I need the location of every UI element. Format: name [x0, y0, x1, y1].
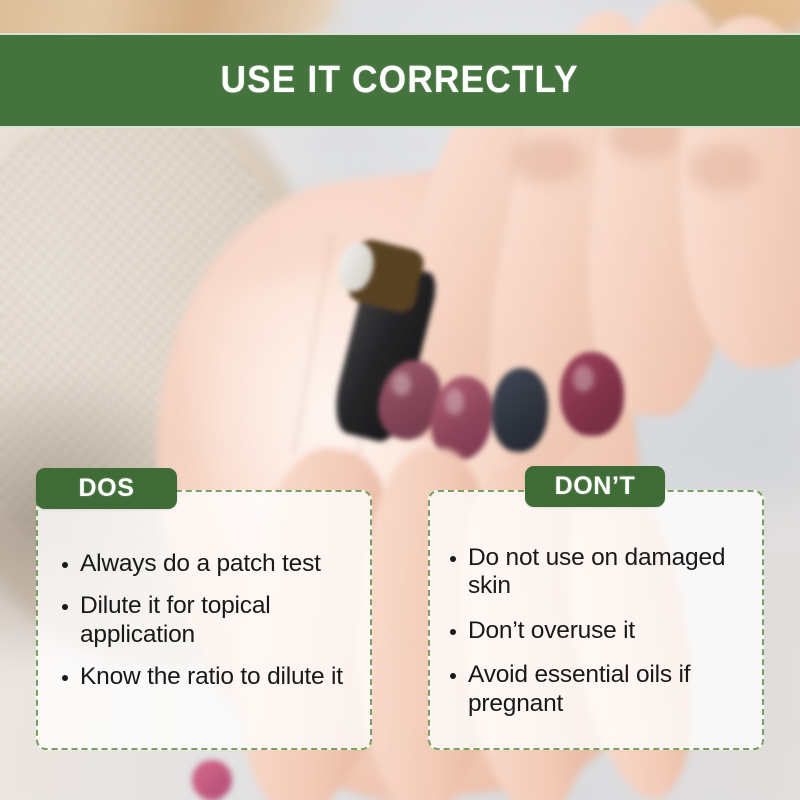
photo-knuckle	[512, 136, 584, 184]
photo-nail-gloss	[392, 372, 411, 396]
photo-nail-gloss	[573, 365, 594, 392]
list-item: Dilute it for topical application	[60, 592, 356, 649]
dos-tab: DOS	[36, 468, 177, 509]
dont-tab-label: DON’T	[555, 472, 636, 501]
list-item: Don’t overuse it	[448, 617, 752, 645]
dos-card: Always do a patch test Dilute it for top…	[36, 490, 372, 750]
header-banner: USE IT CORRECTLY	[0, 33, 800, 128]
photo-nail-gloss	[445, 388, 464, 415]
dont-tab: DON’T	[525, 466, 665, 507]
dos-list: Always do a patch test Dilute it for top…	[38, 492, 370, 748]
photo-fingernail-bottom	[192, 760, 232, 800]
photo-fingernail	[559, 351, 624, 436]
list-item: Know the ratio to dilute it	[60, 663, 356, 691]
dos-tab-label: DOS	[79, 474, 135, 503]
dont-list: Do not use on damaged skin Don’t overuse…	[430, 492, 762, 748]
list-item: Avoid essential oils if pregnant	[448, 661, 752, 718]
dont-card: Do not use on damaged skin Don’t overuse…	[428, 490, 764, 750]
list-item: Always do a patch test	[60, 550, 356, 578]
page-title: USE IT CORRECTLY	[221, 59, 579, 102]
photo-knuckle	[688, 144, 760, 192]
list-item: Do not use on damaged skin	[448, 544, 752, 601]
